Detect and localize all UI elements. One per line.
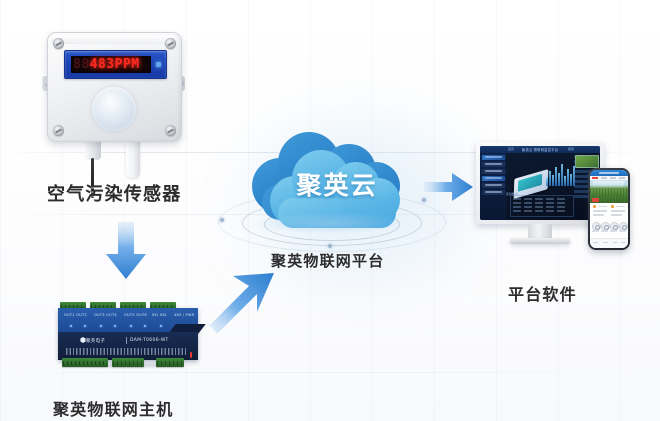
dashboard-camera-thumbnail[interactable]	[575, 155, 599, 168]
dashboard-titlebar: 聚英云 物联网监控平台 首页 报警	[480, 146, 600, 153]
phone-quick-actions	[590, 222, 628, 234]
led-unit: PPM	[115, 58, 140, 71]
host-channel-label: 485 / PWR	[174, 313, 194, 317]
sensor-caption: 空气污染传感器	[47, 180, 181, 206]
host-pin-header	[66, 348, 186, 355]
orbit-node	[328, 244, 332, 248]
led-dim-digits: 88	[73, 58, 90, 71]
sidebar-item[interactable]	[482, 183, 505, 188]
arrow-host-to-cloud	[203, 268, 275, 340]
host-status-led-icon	[190, 352, 193, 358]
host-caption: 聚英物联网主机	[53, 396, 173, 420]
monitor: 聚英云 物联网监控平台 首页 报警	[476, 142, 604, 224]
platform-software-graphic: 聚英云 物联网监控平台 首页 报警	[476, 142, 646, 272]
led-value: 483	[90, 58, 115, 71]
sensor-led-panel: 88483PPM	[64, 50, 167, 79]
sensor-led-screen: 88483PPM	[71, 56, 151, 73]
host-board: OUT1 OUT2 OUT3 OUT4 OUT5 OUT6 IN1 IN2 48…	[58, 308, 198, 360]
phone-nav-item[interactable]	[601, 177, 607, 179]
dashboard-table	[510, 195, 574, 217]
screw-icon	[165, 125, 176, 136]
orbit-node	[220, 218, 224, 222]
terminal-block	[156, 358, 184, 367]
dashboard-title: 聚英云 物联网监控平台	[522, 147, 558, 152]
arrow-cloud-to-platform	[424, 172, 474, 202]
platform-caption: 平台软件	[508, 281, 577, 305]
cloud-caption: 聚英物联网平台	[271, 250, 384, 271]
sidebar-item[interactable]	[482, 169, 505, 174]
cloud-label: 聚英云	[276, 166, 398, 202]
diagram-canvas: 88483PPM 空气污染传感器	[0, 0, 660, 421]
smartphone	[588, 168, 630, 250]
phone-tabbar	[590, 238, 628, 248]
sidebar-item[interactable]	[482, 190, 505, 195]
host-model-label: DAM-T0606-WT	[130, 338, 169, 343]
screw-icon	[53, 125, 64, 136]
dashboard-tab[interactable]: 报警	[568, 147, 574, 151]
iot-gateway-host: OUT1 OUT2 OUT3 OUT4 OUT5 OUT6 IN1 IN2 48…	[52, 300, 204, 370]
sensor-lens	[92, 87, 136, 131]
phone-badge	[592, 198, 599, 201]
phone-nav-item[interactable]	[610, 177, 616, 179]
sidebar-item[interactable]	[482, 155, 505, 160]
sidebar-item[interactable]	[482, 176, 505, 181]
sidebar-item[interactable]	[482, 162, 505, 167]
host-channel-label: OUT5 OUT6	[124, 313, 147, 317]
arrow-sensor-to-host	[105, 222, 147, 280]
host-channel-label: IN1 IN2	[152, 313, 167, 317]
host-brand-label: 聚英电子	[86, 338, 105, 344]
phone-tabbar-item[interactable]	[613, 242, 618, 243]
phone-screen	[590, 170, 628, 248]
air-pollution-sensor: 88483PPM	[47, 32, 180, 177]
host-channel-label: OUT1 OUT2	[64, 313, 87, 317]
screw-icon	[53, 38, 64, 49]
phone-nav-item[interactable]	[619, 177, 625, 179]
cloud-base-glow	[254, 212, 406, 234]
phone-info-cards	[590, 204, 628, 220]
sensor-top-lip	[51, 35, 178, 44]
monitor-stand-base	[510, 238, 570, 244]
phone-tabbar-item[interactable]	[593, 242, 598, 243]
phone-nav-item[interactable]	[592, 177, 598, 179]
background-horizon-line-3	[0, 372, 660, 373]
sensor-enclosure: 88483PPM	[47, 32, 182, 142]
terminal-block	[62, 358, 108, 367]
dashboard-tab[interactable]: 首页	[508, 147, 514, 151]
monitor-screen: 聚英云 物联网监控平台 首页 报警	[480, 146, 600, 220]
terminal-block	[112, 358, 144, 367]
phone-tabbar-item[interactable]	[621, 242, 626, 243]
power-led-icon	[156, 62, 161, 67]
sensor-probe	[126, 136, 140, 178]
screw-icon	[165, 38, 176, 49]
phone-tabbar-item[interactable]	[603, 242, 608, 243]
dashboard-sidebar	[480, 153, 506, 220]
dashboard-bar-chart	[546, 162, 576, 186]
host-channel-label: OUT3 OUT4	[94, 313, 117, 317]
host-board-lower	[58, 332, 198, 360]
host-label-divider	[126, 337, 127, 344]
cloud-platform-graphic: 聚英云	[236, 126, 426, 256]
